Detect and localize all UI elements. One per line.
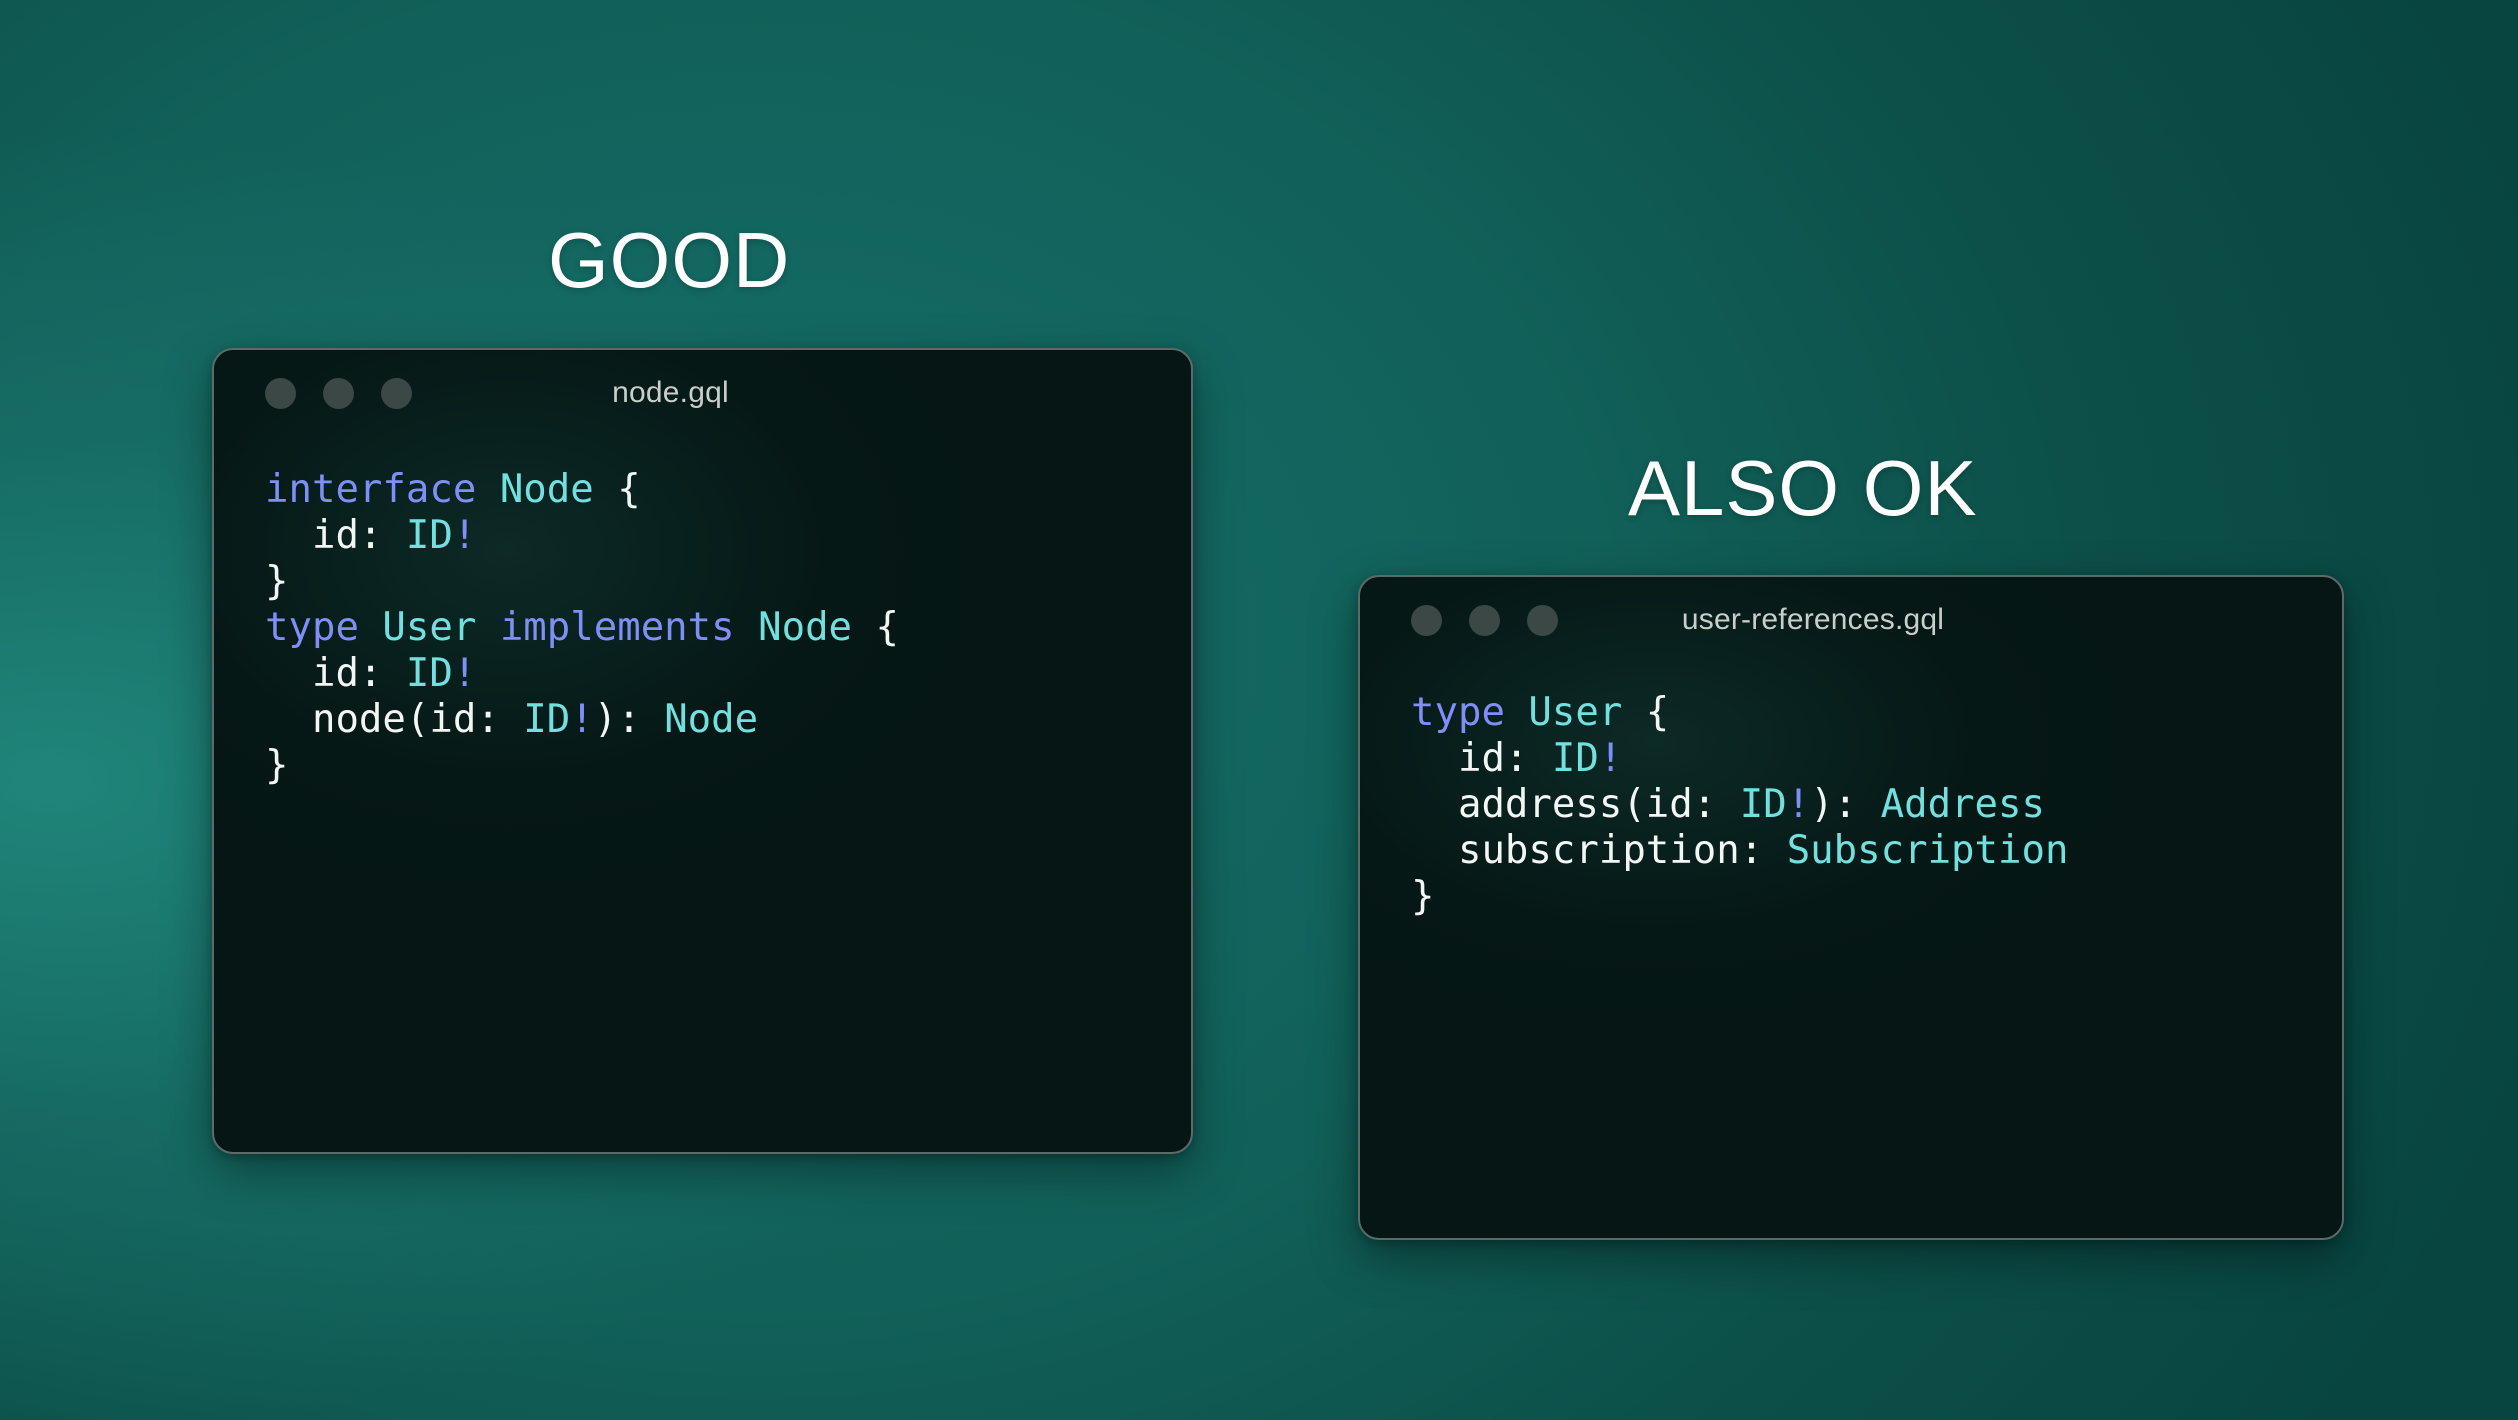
code-line: } (265, 743, 1191, 789)
code-token-punc: ): (1810, 782, 1880, 827)
code-token-type: ID (406, 513, 453, 558)
code-token-punc: } (1411, 874, 1434, 919)
code-token-type: Node (664, 697, 758, 742)
code-token-type: ID (1740, 782, 1787, 827)
code-block-good: interface Node { id: ID!}type User imple… (214, 436, 1191, 789)
code-token-type: User (382, 605, 476, 650)
code-token-type: Node (500, 467, 594, 512)
code-token-kw: type (1411, 690, 1505, 735)
traffic-light-close-icon[interactable] (265, 378, 296, 409)
code-token-bang: ! (1787, 782, 1810, 827)
code-line: } (1411, 874, 2342, 920)
traffic-light-minimize-icon[interactable] (1469, 605, 1500, 636)
traffic-light-maximize-icon[interactable] (1527, 605, 1558, 636)
code-token-punc: } (265, 559, 288, 604)
code-token-id: address(id: (1411, 782, 1740, 827)
code-token-punc: { (852, 605, 899, 650)
code-token-id: subscription: (1411, 828, 1787, 873)
code-token-id: node(id: (265, 697, 523, 742)
code-token-punc: } (265, 743, 288, 788)
traffic-light-close-icon[interactable] (1411, 605, 1442, 636)
traffic-light-minimize-icon[interactable] (323, 378, 354, 409)
code-token-kw: implements (500, 605, 735, 650)
code-line: interface Node { (265, 467, 1191, 513)
code-token-id: id: (265, 651, 406, 696)
traffic-light-maximize-icon[interactable] (381, 378, 412, 409)
code-line: id: ID! (265, 513, 1191, 559)
code-token-id: id: (265, 513, 406, 558)
code-token-id: id: (1411, 736, 1552, 781)
code-token-bang: ! (453, 513, 476, 558)
code-token-punc (359, 605, 382, 650)
code-token-type: Subscription (1787, 828, 2069, 873)
code-line: type User { (1411, 690, 2342, 736)
code-token-punc: ): (594, 697, 664, 742)
code-token-bang: ! (453, 651, 476, 696)
code-token-punc (476, 467, 499, 512)
panel-heading-alsook: ALSO OK (1628, 443, 1977, 534)
code-block-alsook: type User { id: ID! address(id: ID!): Ad… (1360, 663, 2342, 920)
code-token-type: ID (406, 651, 453, 696)
code-line: type User implements Node { (265, 605, 1191, 651)
traffic-lights-group[interactable] (265, 378, 412, 409)
code-token-punc: { (594, 467, 641, 512)
code-token-type: ID (523, 697, 570, 742)
code-token-type: Node (758, 605, 852, 650)
code-line: subscription: Subscription (1411, 828, 2342, 874)
code-token-kw: interface (265, 467, 476, 512)
code-line: id: ID! (265, 651, 1191, 697)
code-line: address(id: ID!): Address (1411, 782, 2342, 828)
code-token-punc (1505, 690, 1528, 735)
code-token-type: Address (1881, 782, 2045, 827)
code-token-kw: type (265, 605, 359, 650)
code-window-alsook[interactable]: user-references.gql type User { id: ID! … (1358, 575, 2344, 1240)
panel-heading-good: GOOD (548, 215, 790, 306)
code-line: } (265, 559, 1191, 605)
code-line: node(id: ID!): Node (265, 697, 1191, 743)
window-titlebar[interactable]: node.gql (214, 350, 1191, 436)
window-titlebar[interactable]: user-references.gql (1360, 577, 2342, 663)
code-token-type: User (1528, 690, 1622, 735)
code-token-bang: ! (1599, 736, 1622, 781)
code-line: id: ID! (1411, 736, 2342, 782)
comparison-canvas: GOOD node.gql interface Node { id: ID!}t… (0, 0, 2518, 1420)
code-window-good[interactable]: node.gql interface Node { id: ID!}type U… (212, 348, 1193, 1154)
code-token-punc: { (1622, 690, 1669, 735)
code-token-punc (735, 605, 758, 650)
traffic-lights-group[interactable] (1411, 605, 1558, 636)
code-token-punc (476, 605, 499, 650)
code-token-type: ID (1552, 736, 1599, 781)
code-token-bang: ! (570, 697, 593, 742)
